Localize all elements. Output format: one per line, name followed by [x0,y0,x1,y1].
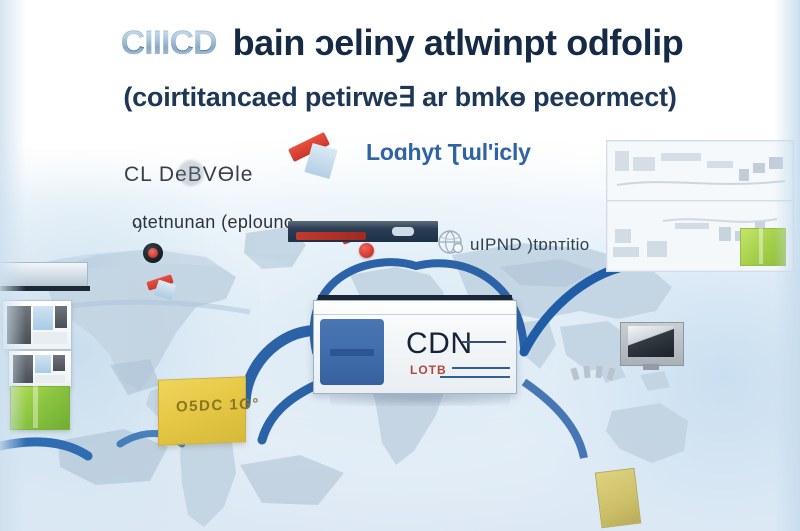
cdn-card-hairline [314,314,516,315]
origin-label: otetnunan (eplounc [132,212,293,233]
brand-mark: CIIICD [117,23,221,63]
edge-label-smudge [178,160,204,186]
right-edge-vignette [774,0,800,531]
network-bar-chip [392,227,414,236]
marker-dot-icon-red [359,243,374,258]
map-dash-3 [595,366,602,379]
content-label: uIPND )tɒnтitio [470,235,590,255]
cdn-card-rule-b [440,376,510,378]
edge-collage-panel-top [606,140,794,204]
cdn-card-title-rule [462,341,506,343]
origin-server-label: O5DC 1G° [176,395,260,415]
cdn-card-blue-panel [320,319,384,385]
collage-top-art [607,141,793,203]
globe-icon [436,228,466,256]
green-node-fold-right [759,228,763,264]
page-title: bain ɔeliny atlwinpt odfolip [233,22,684,64]
left-edge-vignette [0,0,26,531]
cdn-card-blue-slot [330,349,374,356]
page-subtitle: (coirtitancaed petirwe∃ ar bmkɵ peeormec… [0,82,800,113]
client-monitor-stand [643,364,659,370]
cdn-card-top-bar [318,295,512,300]
map-dash-2 [583,366,590,379]
marker-dot-core [148,248,158,258]
green-node-fold-left [33,386,38,428]
cdn-card-shadow [330,392,510,406]
cdn-core-card: CDN LOTB [313,300,517,394]
cdn-card-subtitle: LOTB [410,363,447,377]
cdn-infographic-canvas: CIIICD bain ɔeliny atlwinpt odfolip (coi… [0,0,800,531]
latency-label: Loɑhyt Ʈɯl'icly [366,139,531,166]
cdn-card-rule-a [452,367,510,369]
cdn-card-title: CDN [406,327,473,361]
network-bar-red-segment [296,232,366,240]
page-title-row: CIIICD bain ɔeliny atlwinpt odfolip [0,22,800,64]
secondary-origin-node [595,468,642,528]
monitor-icon [628,326,674,357]
